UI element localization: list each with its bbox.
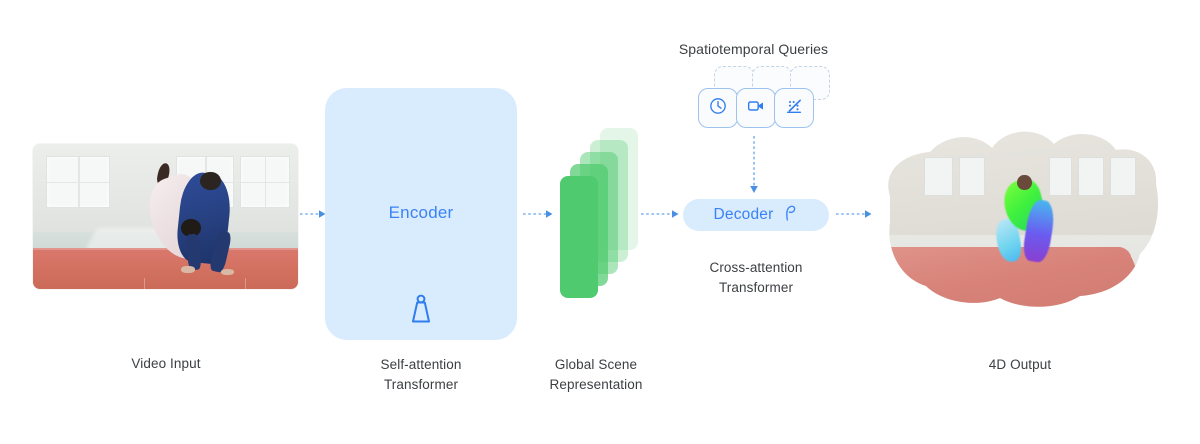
video-input-caption: Video Input [66, 354, 266, 374]
connector-encoder-to-representation [523, 208, 555, 220]
tatami-mat [33, 248, 298, 289]
spatiotemporal-queries-title: Spatiotemporal Queries [616, 41, 891, 57]
encoder-label: Encoder [325, 203, 517, 223]
judoka-foot-right [221, 269, 234, 276]
clock-icon [708, 96, 728, 121]
reconstructed-window [924, 157, 953, 196]
connector-decoder-to-output [836, 208, 874, 220]
video-camera-icon [746, 96, 766, 121]
scatter-trend-icon [784, 96, 804, 121]
reconstructed-window [959, 157, 985, 196]
scene-representation-caption: Global Scene Representation [506, 355, 686, 394]
camera-query[interactable] [736, 88, 776, 128]
window-left [46, 156, 110, 208]
decoder-label: Decoder [714, 206, 774, 224]
encoder-block[interactable]: Encoder [325, 88, 517, 340]
connector-representation-to-decoder [641, 208, 681, 220]
decoder-block[interactable]: Decoder [683, 199, 829, 231]
mat-seam [144, 278, 145, 289]
reconstructed-window [1049, 157, 1072, 196]
output-caption: 4D Output [930, 355, 1110, 375]
reconstructed-window [1110, 157, 1136, 196]
reconstructed-window [1078, 157, 1104, 196]
global-scene-representation [560, 128, 650, 298]
time-query[interactable] [698, 88, 738, 128]
output-4d-pointcloud [872, 118, 1162, 313]
reconstructed-head [1017, 175, 1032, 191]
decoder-caption: Cross-attention Transformer [666, 258, 846, 297]
spatiotemporal-query-chips [690, 66, 840, 136]
scene-layer [560, 176, 598, 298]
encoder-caption: Self-attention Transformer [321, 355, 521, 394]
weight-icon [325, 292, 517, 324]
mat-seam [245, 278, 246, 289]
video-input-thumbnail [33, 144, 298, 289]
judoka-foot-left [181, 266, 194, 273]
architecture-diagram: Video Input Encoder Self-attention Trans… [0, 0, 1200, 444]
connector-video-to-encoder [300, 208, 328, 220]
feather-icon [781, 203, 799, 228]
connector-queries-to-decoder [748, 136, 760, 196]
motion-query[interactable] [774, 88, 814, 128]
window-right [240, 156, 290, 208]
